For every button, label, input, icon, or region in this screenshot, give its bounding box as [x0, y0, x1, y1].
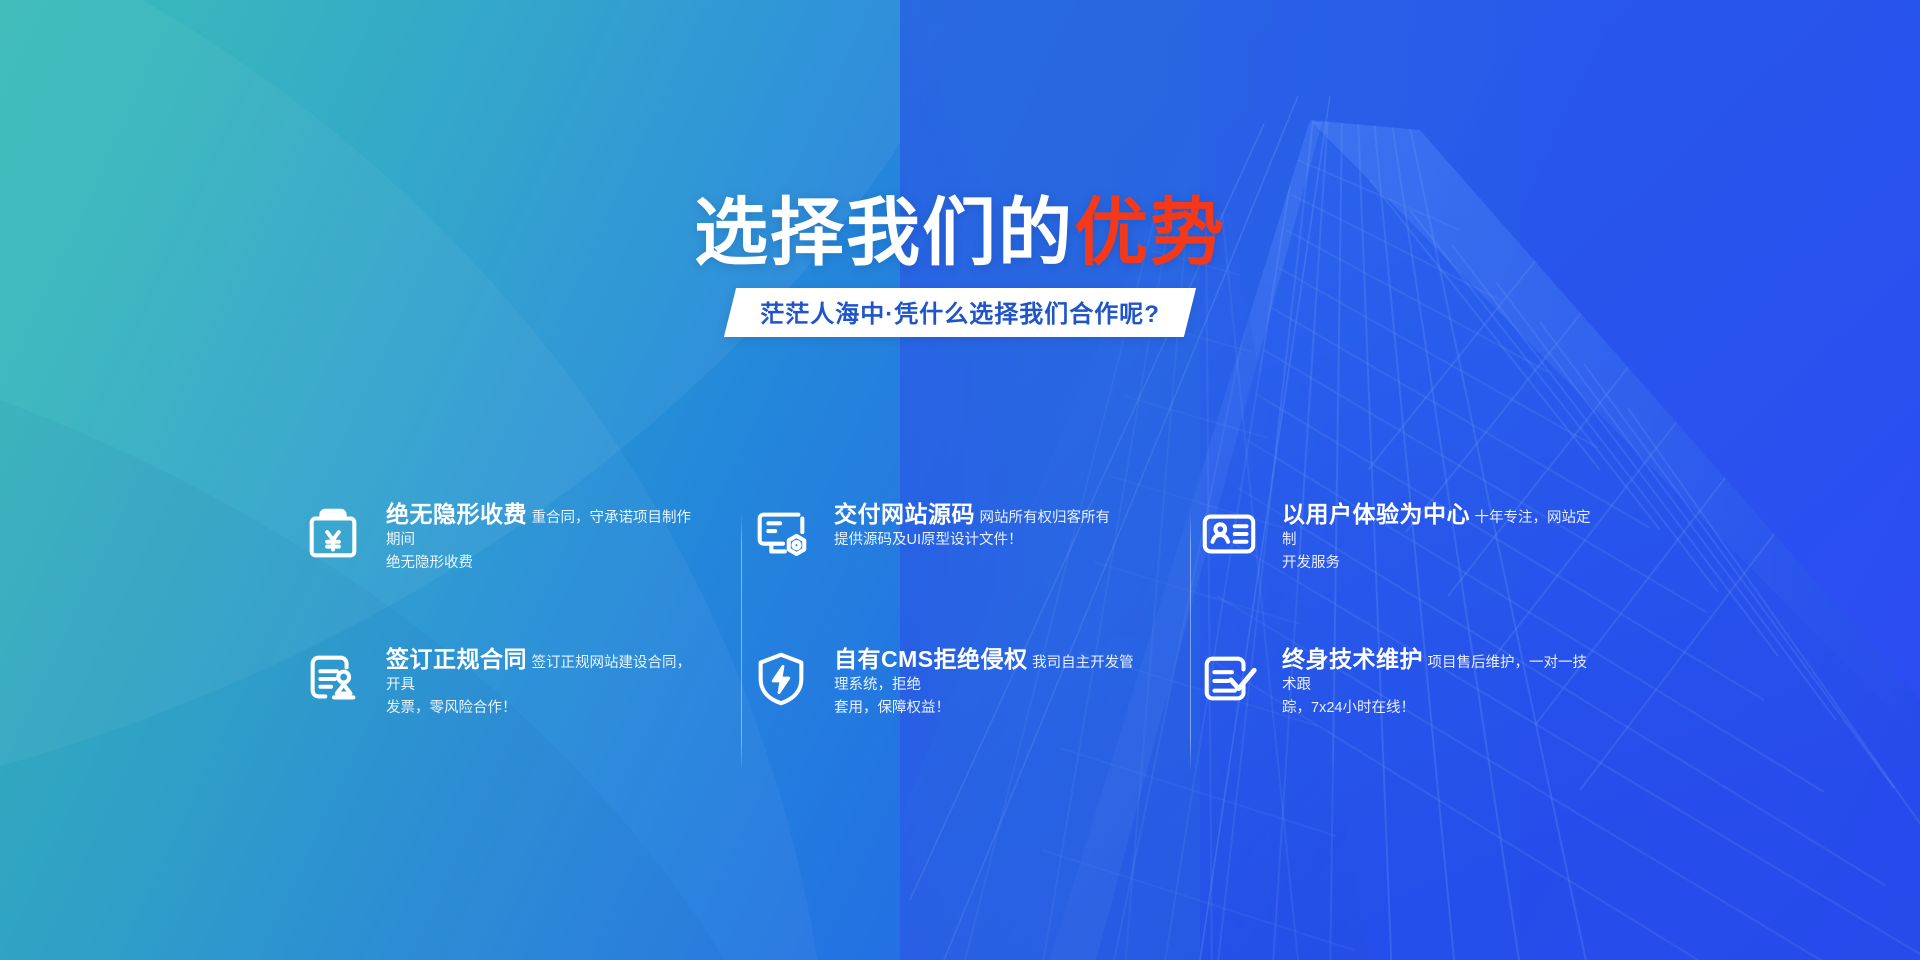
feature-desc-line-1: 网站所有权归客所有 [979, 510, 1110, 526]
headline-main-text: 选择我们的 [694, 191, 1074, 274]
feature-text: 交付网站源码 网站所有权归客所有 提供源码及UI原型设计文件！ [834, 499, 1110, 552]
feature-grid: 绝无隐形收费 重合同，守承诺项目制作期间 绝无隐形收费 [288, 495, 1632, 785]
feature-desc-line-2: 提供源码及UI原型设计文件！ [834, 532, 1023, 548]
feature-desc-line-2: 绝无隐形收费 [386, 555, 473, 571]
shield-bolt-icon [750, 648, 812, 710]
feature-item-formal-contract[interactable]: 签订正规合同 签订正规网站建设合同，开具 发票，零风险合作！ [288, 640, 736, 785]
feature-desc-line-2: 踪，7x24小时在线！ [1282, 700, 1415, 716]
feature-item-source-code[interactable]: 交付网站源码 网站所有权归客所有 提供源码及UI原型设计文件！ [736, 495, 1184, 640]
headline-block: 选择我们的优势 茫茫人海中·凭什么选择我们合作呢? [0, 196, 1920, 337]
subtitle-banner: 茫茫人海中·凭什么选择我们合作呢? [724, 288, 1196, 337]
promo-banner-stage: 选择我们的优势 茫茫人海中·凭什么选择我们合作呢? 绝无隐 [0, 0, 1920, 960]
skyscraper-background-image [900, 0, 1920, 960]
feature-text: 终身技术维护 项目售后维护，一对一技术跟 踪，7x24小时在线！ [1282, 644, 1592, 719]
feature-item-user-experience[interactable]: 以用户体验为中心 十年专注，网站定制 开发服务 [1184, 495, 1632, 640]
feature-desc-line-2: 发票，零风险合作！ [386, 700, 517, 716]
feature-title: 交付网站源码 [834, 501, 975, 527]
feature-item-no-hidden-fees[interactable]: 绝无隐形收费 重合同，守承诺项目制作期间 绝无隐形收费 [288, 495, 736, 640]
headline-accent-text: 优势 [1074, 191, 1226, 274]
feature-title: 终身技术维护 [1282, 646, 1423, 672]
contract-stamp-icon [302, 648, 364, 710]
feature-text: 绝无隐形收费 重合同，守承诺项目制作期间 绝无隐形收费 [386, 499, 696, 574]
checklist-check-icon [1198, 648, 1260, 710]
id-card-icon [1198, 503, 1260, 565]
feature-text: 以用户体验为中心 十年专注，网站定制 开发服务 [1282, 499, 1592, 574]
feature-desc-line-2: 套用，保障权益！ [834, 700, 950, 716]
subtitle-text: 茫茫人海中·凭什么选择我们合作呢? [760, 294, 1160, 329]
clipboard-yen-icon [302, 503, 364, 565]
background-wave-2 [0, 0, 966, 960]
feature-title: 绝无隐形收费 [386, 501, 527, 527]
page-title: 选择我们的优势 [0, 196, 1920, 270]
feature-title: 签订正规合同 [386, 646, 527, 672]
feature-title: 自有CMS拒绝侵权 [834, 646, 1028, 672]
feature-text: 签订正规合同 签订正规网站建设合同，开具 发票，零风险合作！ [386, 644, 696, 719]
feature-text: 自有CMS拒绝侵权 我司自主开发管理系统，拒绝 套用，保障权益！ [834, 644, 1144, 719]
monitor-gear-icon [750, 503, 812, 565]
feature-title: 以用户体验为中心 [1282, 501, 1470, 527]
feature-item-lifetime-maintenance[interactable]: 终身技术维护 项目售后维护，一对一技术跟 踪，7x24小时在线！ [1184, 640, 1632, 785]
feature-desc-line-2: 开发服务 [1282, 555, 1340, 571]
feature-item-own-cms[interactable]: 自有CMS拒绝侵权 我司自主开发管理系统，拒绝 套用，保障权益！ [736, 640, 1184, 785]
